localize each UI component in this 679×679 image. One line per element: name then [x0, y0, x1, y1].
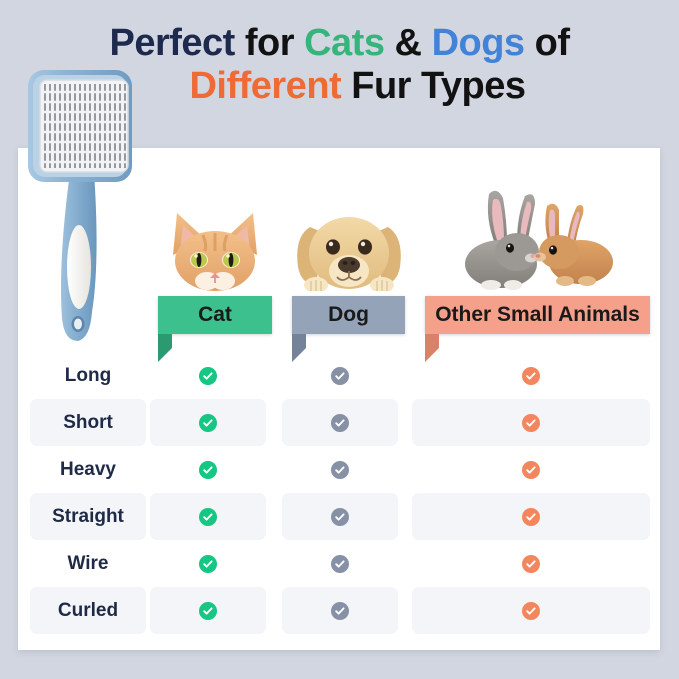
- check-icon: [522, 555, 540, 573]
- table-row: Heavy: [0, 446, 679, 493]
- table-row: Wire: [0, 540, 679, 587]
- rabbits-photo: [455, 186, 621, 296]
- table-row: Straight: [0, 493, 679, 540]
- title-word-cats: Cats: [304, 22, 384, 64]
- table-row: Short: [0, 399, 679, 446]
- row-label-wire: Wire: [30, 540, 146, 587]
- title-word-ampersand: &: [395, 22, 422, 64]
- row-label-long: Long: [30, 352, 146, 399]
- cell-long-other: [412, 352, 650, 399]
- cell-curled-other: [412, 587, 650, 634]
- cell-wire-dog: [282, 540, 398, 587]
- title-word-dogs: Dogs: [432, 22, 525, 64]
- cell-wire-other: [412, 540, 650, 587]
- cell-straight-other: [412, 493, 650, 540]
- check-icon: [331, 461, 349, 479]
- table-row: Long: [0, 352, 679, 399]
- check-icon: [199, 414, 217, 432]
- check-icon: [331, 555, 349, 573]
- banner-cat: Cat: [158, 296, 272, 334]
- dog-photo: [290, 201, 408, 296]
- cell-short-dog: [282, 399, 398, 446]
- title-word-perfect: Perfect: [109, 22, 234, 64]
- check-icon: [331, 414, 349, 432]
- check-icon: [199, 555, 217, 573]
- check-icon: [522, 367, 540, 385]
- check-icon: [199, 367, 217, 385]
- title-word-different: Different: [189, 65, 341, 107]
- column-header-dog: Dog: [292, 148, 405, 348]
- cell-short-cat: [150, 399, 266, 446]
- cell-short-other: [412, 399, 650, 446]
- cell-heavy-cat: [150, 446, 266, 493]
- cell-curled-dog: [282, 587, 398, 634]
- check-icon: [199, 602, 217, 620]
- banner-label-dog: Dog: [328, 303, 369, 326]
- row-label-heavy: Heavy: [30, 446, 146, 493]
- cell-long-dog: [282, 352, 398, 399]
- check-icon: [522, 461, 540, 479]
- title-line-1: Perfect for Cats & Dogs of: [0, 22, 679, 65]
- banner-label-other: Other Small Animals: [435, 303, 640, 326]
- cat-photo: [163, 205, 267, 296]
- title-word-of: of: [535, 22, 570, 64]
- title-word-types: Types: [421, 65, 526, 107]
- check-icon: [199, 508, 217, 526]
- cell-curled-cat: [150, 587, 266, 634]
- cell-straight-cat: [150, 493, 266, 540]
- check-icon: [331, 508, 349, 526]
- title-word-for: for: [245, 22, 294, 64]
- cell-long-cat: [150, 352, 266, 399]
- banner-dog: Dog: [292, 296, 405, 334]
- cell-straight-dog: [282, 493, 398, 540]
- row-label-straight: Straight: [30, 493, 146, 540]
- table-row: Curled: [0, 587, 679, 634]
- column-header-cat: Cat: [158, 148, 272, 348]
- check-icon: [331, 367, 349, 385]
- infographic-stage: Perfect for Cats & Dogs of Different Fur…: [0, 0, 679, 679]
- banner-label-cat: Cat: [198, 303, 232, 326]
- check-icon: [522, 414, 540, 432]
- cell-wire-cat: [150, 540, 266, 587]
- check-icon: [522, 602, 540, 620]
- check-icon: [199, 461, 217, 479]
- cell-heavy-dog: [282, 446, 398, 493]
- banner-other: Other Small Animals: [425, 296, 650, 334]
- cell-heavy-other: [412, 446, 650, 493]
- fur-type-table: LongShortHeavyStraightWireCurled: [0, 352, 679, 634]
- slicker-brush-image: [20, 62, 136, 347]
- check-icon: [522, 508, 540, 526]
- row-label-short: Short: [30, 399, 146, 446]
- title-word-fur: Fur: [351, 65, 411, 107]
- column-header-other: Other Small Animals: [425, 148, 650, 348]
- check-icon: [331, 602, 349, 620]
- row-label-curled: Curled: [30, 587, 146, 634]
